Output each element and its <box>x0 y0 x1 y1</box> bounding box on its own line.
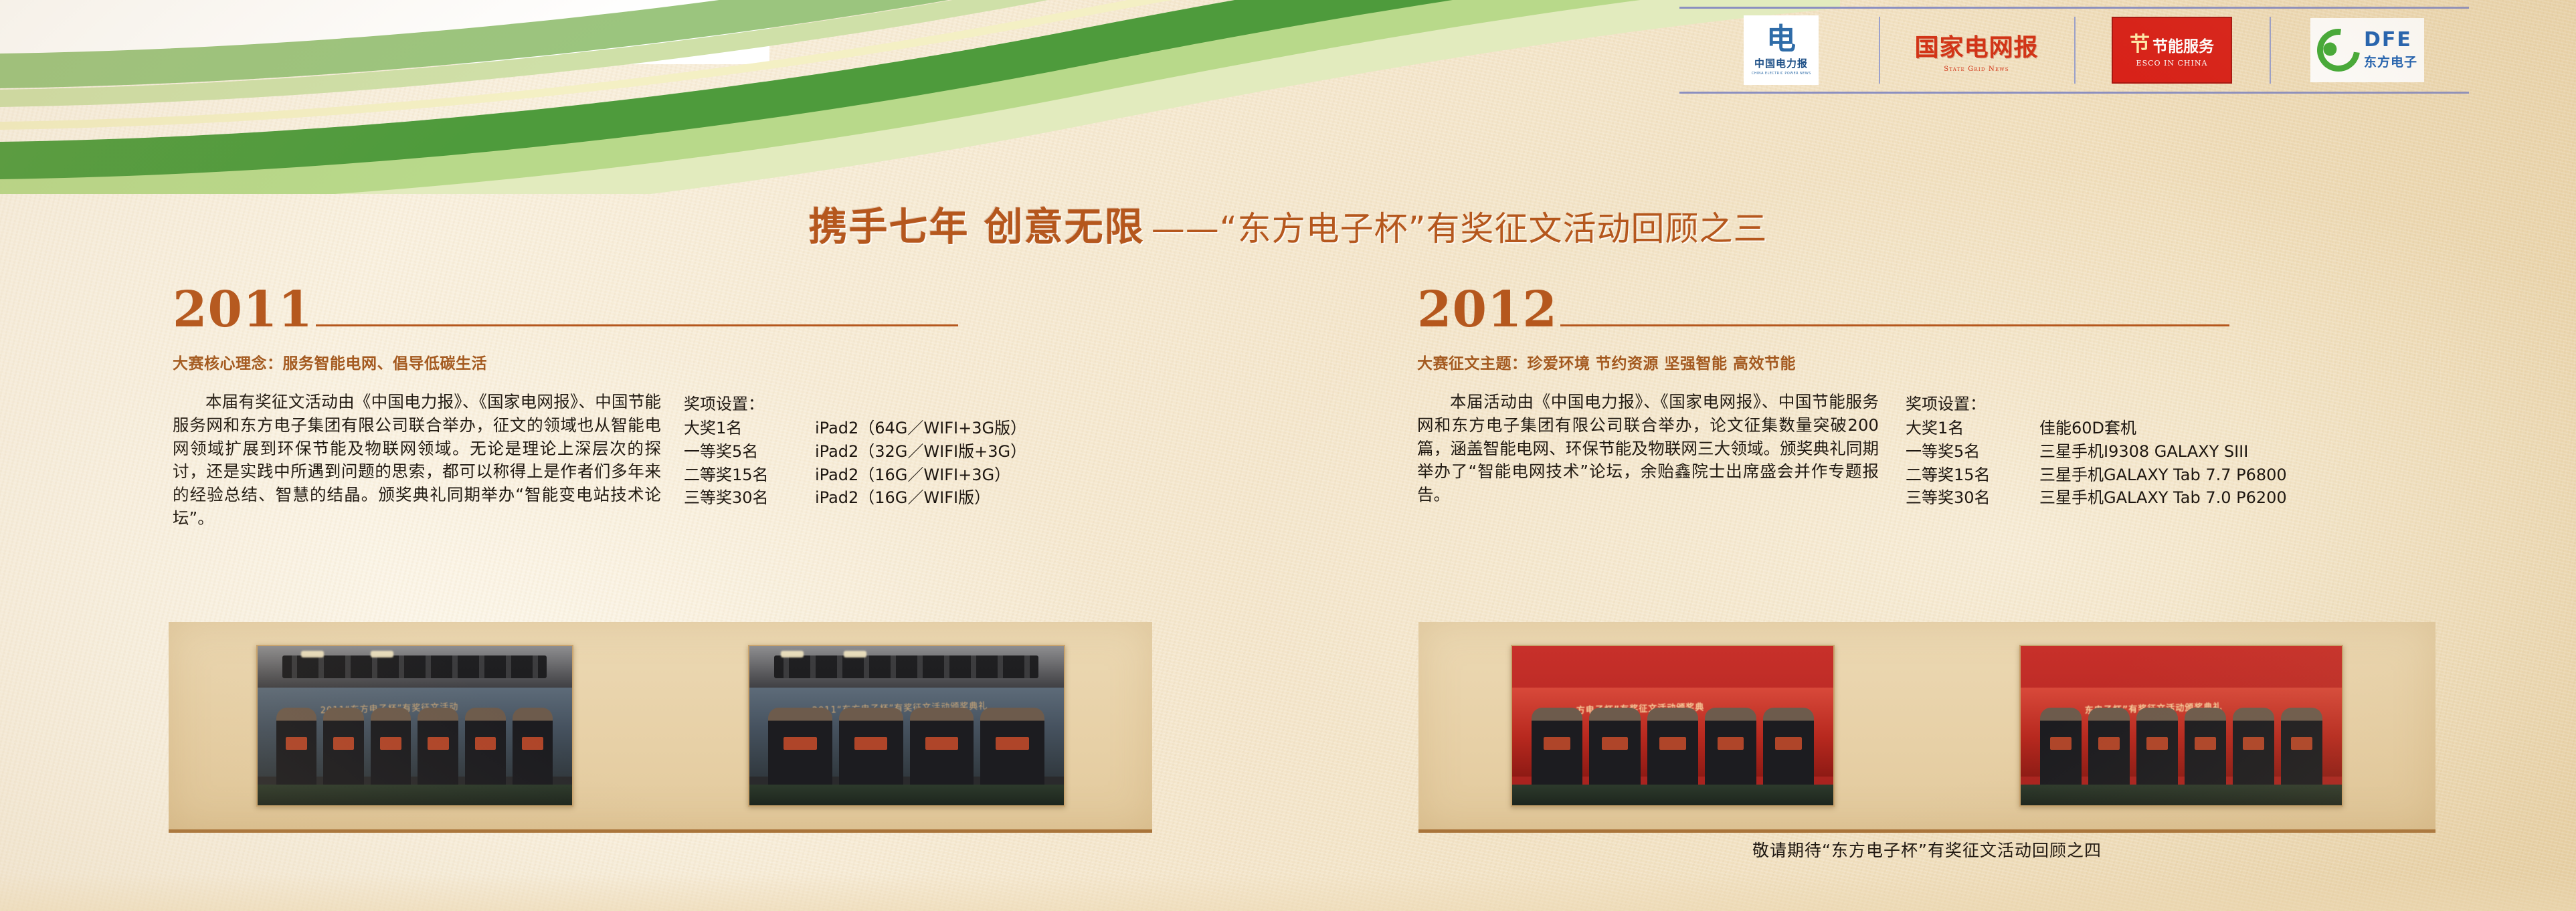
page-title-bold: 携手七年 创意无限 <box>808 204 1144 249</box>
year-rule-2012 <box>1560 324 2229 326</box>
poster-canvas: 电 中国电力报 CHINA ELECTRIC POWER NEWS 国家电网报 … <box>0 0 2576 911</box>
logo-state-grid-news[interactable]: 国家电网报 State Grid News <box>1879 14 2074 86</box>
award-label: 三等奖30名 <box>1906 486 2039 510</box>
dfe-text-block: DFE 东方电子 <box>2364 30 2417 70</box>
esco-logo-box: 节 节能服务 ESCO IN CHINA <box>2112 17 2232 84</box>
year-heading-2011: 2011 <box>173 281 1170 333</box>
photo-light-rig <box>774 655 1038 678</box>
year-label-2012: 2012 <box>1417 286 1558 333</box>
award-value: iPad2（16G／WIFI+3G） <box>815 464 1010 487</box>
award-label: 大奖1名 <box>684 417 815 440</box>
award-label: 二等奖15名 <box>684 464 815 487</box>
section-2011: 2011 大赛核心理念：服务智能电网、倡导低碳生活 本届有奖征文活动由《中国电力… <box>173 281 1170 530</box>
photo-2011-b[interactable]: 2011“东方电子杯”有奖征文活动颁奖典礼 <box>748 645 1065 807</box>
subtitle-2012: 大赛征文主题：珍爱环境 节约资源 坚强智能 高效节能 <box>1417 350 2434 373</box>
esco-seal-icon: 节 <box>2130 35 2150 55</box>
photo-person <box>418 708 458 790</box>
photo-person <box>2088 708 2130 790</box>
sgn-logo-box: 国家电网报 State Grid News <box>1914 28 2038 73</box>
cepn-logo-box: 电 中国电力报 CHINA ELECTRIC POWER NEWS <box>1744 15 1819 85</box>
photo-person <box>1647 708 1698 790</box>
photo-person <box>839 708 903 790</box>
body-row-2011: 本届有奖征文活动由《中国电力报》、《国家电网报》、中国节能服务网和东方电子集团有… <box>173 391 1170 530</box>
photo-spotlight <box>301 651 324 657</box>
swoosh-svg <box>0 0 1840 194</box>
photo-person <box>2281 708 2322 790</box>
award-value: iPad2（32G／WIFI版+3G） <box>815 440 1026 464</box>
green-swoosh-decoration <box>0 0 1840 194</box>
photo-2012-b[interactable]: 东电子杯”有奖征文活动颁奖典礼 <box>2019 645 2343 807</box>
award-value: iPad2（64G／WIFI+3G版） <box>815 417 1026 440</box>
awards-heading-2012: 奖项设置： <box>1906 391 2287 414</box>
bottom-strip <box>0 874 2576 911</box>
photo-people-group <box>768 700 1045 789</box>
logo-china-electric-power-news[interactable]: 电 中国电力报 CHINA ELECTRIC POWER NEWS <box>1683 14 1879 86</box>
photo-person <box>768 708 832 790</box>
photo-strip-2012: 方电子杯”有奖征文活动颁奖典 东电子杯”有奖征文活动颁奖典礼 <box>1418 622 2435 833</box>
esco-name-en: ESCO IN CHINA <box>2136 59 2208 68</box>
sponsor-logo-bar: 电 中国电力报 CHINA ELECTRIC POWER NEWS 国家电网报 … <box>1679 7 2469 94</box>
photo-person <box>910 708 974 790</box>
photo-person <box>1589 708 1640 790</box>
body-row-2012: 本届活动由《中国电力报》、《国家电网报》、中国节能服务网和东方电子集团有限公司联… <box>1417 391 2434 510</box>
award-label: 三等奖30名 <box>684 486 815 510</box>
award-row: 大奖1名 佳能60D套机 <box>1906 417 2287 440</box>
photo-person <box>323 708 364 790</box>
year-heading-2012: 2012 <box>1417 281 2434 333</box>
photo-people-group <box>276 700 553 789</box>
award-value: iPad2（16G／WIFI版） <box>815 486 990 510</box>
photo-spotlight <box>781 651 804 657</box>
award-row: 二等奖15名 iPad2（16G／WIFI+3G） <box>684 464 1026 487</box>
photo-person <box>465 708 506 790</box>
paragraph-2011: 本届有奖征文活动由《中国电力报》、《国家电网报》、中国节能服务网和东方电子集团有… <box>173 391 661 530</box>
award-value: 三星手机I9308 GALAXY SIII <box>2039 440 2248 464</box>
award-row: 大奖1名 iPad2（64G／WIFI+3G版） <box>684 417 1026 440</box>
paragraph-2012: 本届活动由《中国电力报》、《国家电网报》、中国节能服务网和东方电子集团有限公司联… <box>1417 391 1879 510</box>
photo-2012-a[interactable]: 方电子杯”有奖征文活动颁奖典 <box>1511 645 1835 807</box>
dfe-abbr: DFE <box>2364 30 2412 50</box>
photo-strip-2011: 2011“东方电子杯”有奖征文活动 2011“东方电子杯”有奖征文活动颁奖典礼 <box>169 622 1152 833</box>
year-rule-2011 <box>316 324 958 326</box>
photo-people-group <box>1532 700 1814 789</box>
award-label: 二等奖15名 <box>1906 464 2039 487</box>
photo-person <box>980 708 1044 790</box>
photo-person <box>2185 708 2226 790</box>
photo-person <box>2233 708 2274 790</box>
subtitle-2011: 大赛核心理念：服务智能电网、倡导低碳生活 <box>173 350 1170 373</box>
photo-person <box>2040 708 2082 790</box>
award-value: 三星手机GALAXY Tab 7.7 P6800 <box>2039 464 2287 487</box>
photo-light-rig <box>282 655 547 678</box>
award-row: 一等奖5名 iPad2（32G／WIFI版+3G） <box>684 440 1026 464</box>
esco-logo-row: 节 节能服务 <box>2130 33 2214 56</box>
award-row: 一等奖5名 三星手机I9308 GALAXY SIII <box>1906 440 2287 464</box>
photo-spotlight <box>371 651 393 657</box>
photo-stage-floor <box>1512 785 1833 805</box>
logo-esco-in-china[interactable]: 节 节能服务 ESCO IN CHINA <box>2074 14 2270 86</box>
award-row: 二等奖15名 三星手机GALAXY Tab 7.7 P6800 <box>1906 464 2287 487</box>
award-value: 佳能60D套机 <box>2039 417 2136 440</box>
photo-person <box>371 708 411 790</box>
photo-spotlight <box>844 651 866 657</box>
photo-2011-a[interactable]: 2011“东方电子杯”有奖征文活动 <box>256 645 573 807</box>
award-label: 一等奖5名 <box>684 440 815 464</box>
photo-person <box>276 708 317 790</box>
photo-person <box>1763 708 1814 790</box>
year-label-2011: 2011 <box>173 286 313 333</box>
award-label: 大奖1名 <box>1906 417 2039 440</box>
photo-person <box>1705 708 1756 790</box>
awards-list-2011: 奖项设置： 大奖1名 iPad2（64G／WIFI+3G版） 一等奖5名 iPa… <box>684 391 1026 530</box>
cepn-name-en: CHINA ELECTRIC POWER NEWS <box>1752 72 1811 75</box>
photo-stage-floor <box>749 785 1064 805</box>
photo-person <box>2136 708 2178 790</box>
dfe-name-cn: 东方电子 <box>2364 52 2417 70</box>
section-2012: 2012 大赛征文主题：珍爱环境 节约资源 坚强智能 高效节能 本届活动由《中国… <box>1417 281 2434 510</box>
photo-people-group <box>2040 700 2322 789</box>
award-value: 三星手机GALAXY Tab 7.0 P6200 <box>2039 486 2287 510</box>
award-label: 一等奖5名 <box>1906 440 2039 464</box>
sgn-name-cn: 国家电网报 <box>1914 28 2038 63</box>
page-title-rest: ——“东方电子杯”有奖征文活动回顾之三 <box>1152 209 1768 248</box>
award-row: 三等奖30名 iPad2（16G／WIFI版） <box>684 486 1026 510</box>
page-title: 携手七年 创意无限——“东方电子杯”有奖征文活动回顾之三 <box>0 195 2576 251</box>
photo-person <box>513 708 553 790</box>
cepn-name-cn: 中国电力报 <box>1754 56 1808 70</box>
dfe-logo-box: DFE 东方电子 <box>2310 18 2424 82</box>
sgn-name-en: State Grid News <box>1944 66 2009 73</box>
footer-note: 敬请期待“东方电子杯”有奖征文活动回顾之四 <box>1418 837 2435 862</box>
awards-heading-2011: 奖项设置： <box>684 391 1026 414</box>
logo-dfe[interactable]: DFE 东方电子 <box>2270 14 2465 86</box>
awards-list-2012: 奖项设置： 大奖1名 佳能60D套机 一等奖5名 三星手机I9308 GALAX… <box>1906 391 2287 510</box>
dfe-swirl-icon <box>2308 20 2369 80</box>
award-row: 三等奖30名 三星手机GALAXY Tab 7.0 P6200 <box>1906 486 2287 510</box>
cepn-mark-icon: 电 <box>1766 25 1796 54</box>
photo-stage-floor <box>258 785 572 805</box>
photo-person <box>1532 708 1582 790</box>
photo-stage-floor <box>2021 785 2342 805</box>
esco-name-cn: 节能服务 <box>2152 33 2214 56</box>
